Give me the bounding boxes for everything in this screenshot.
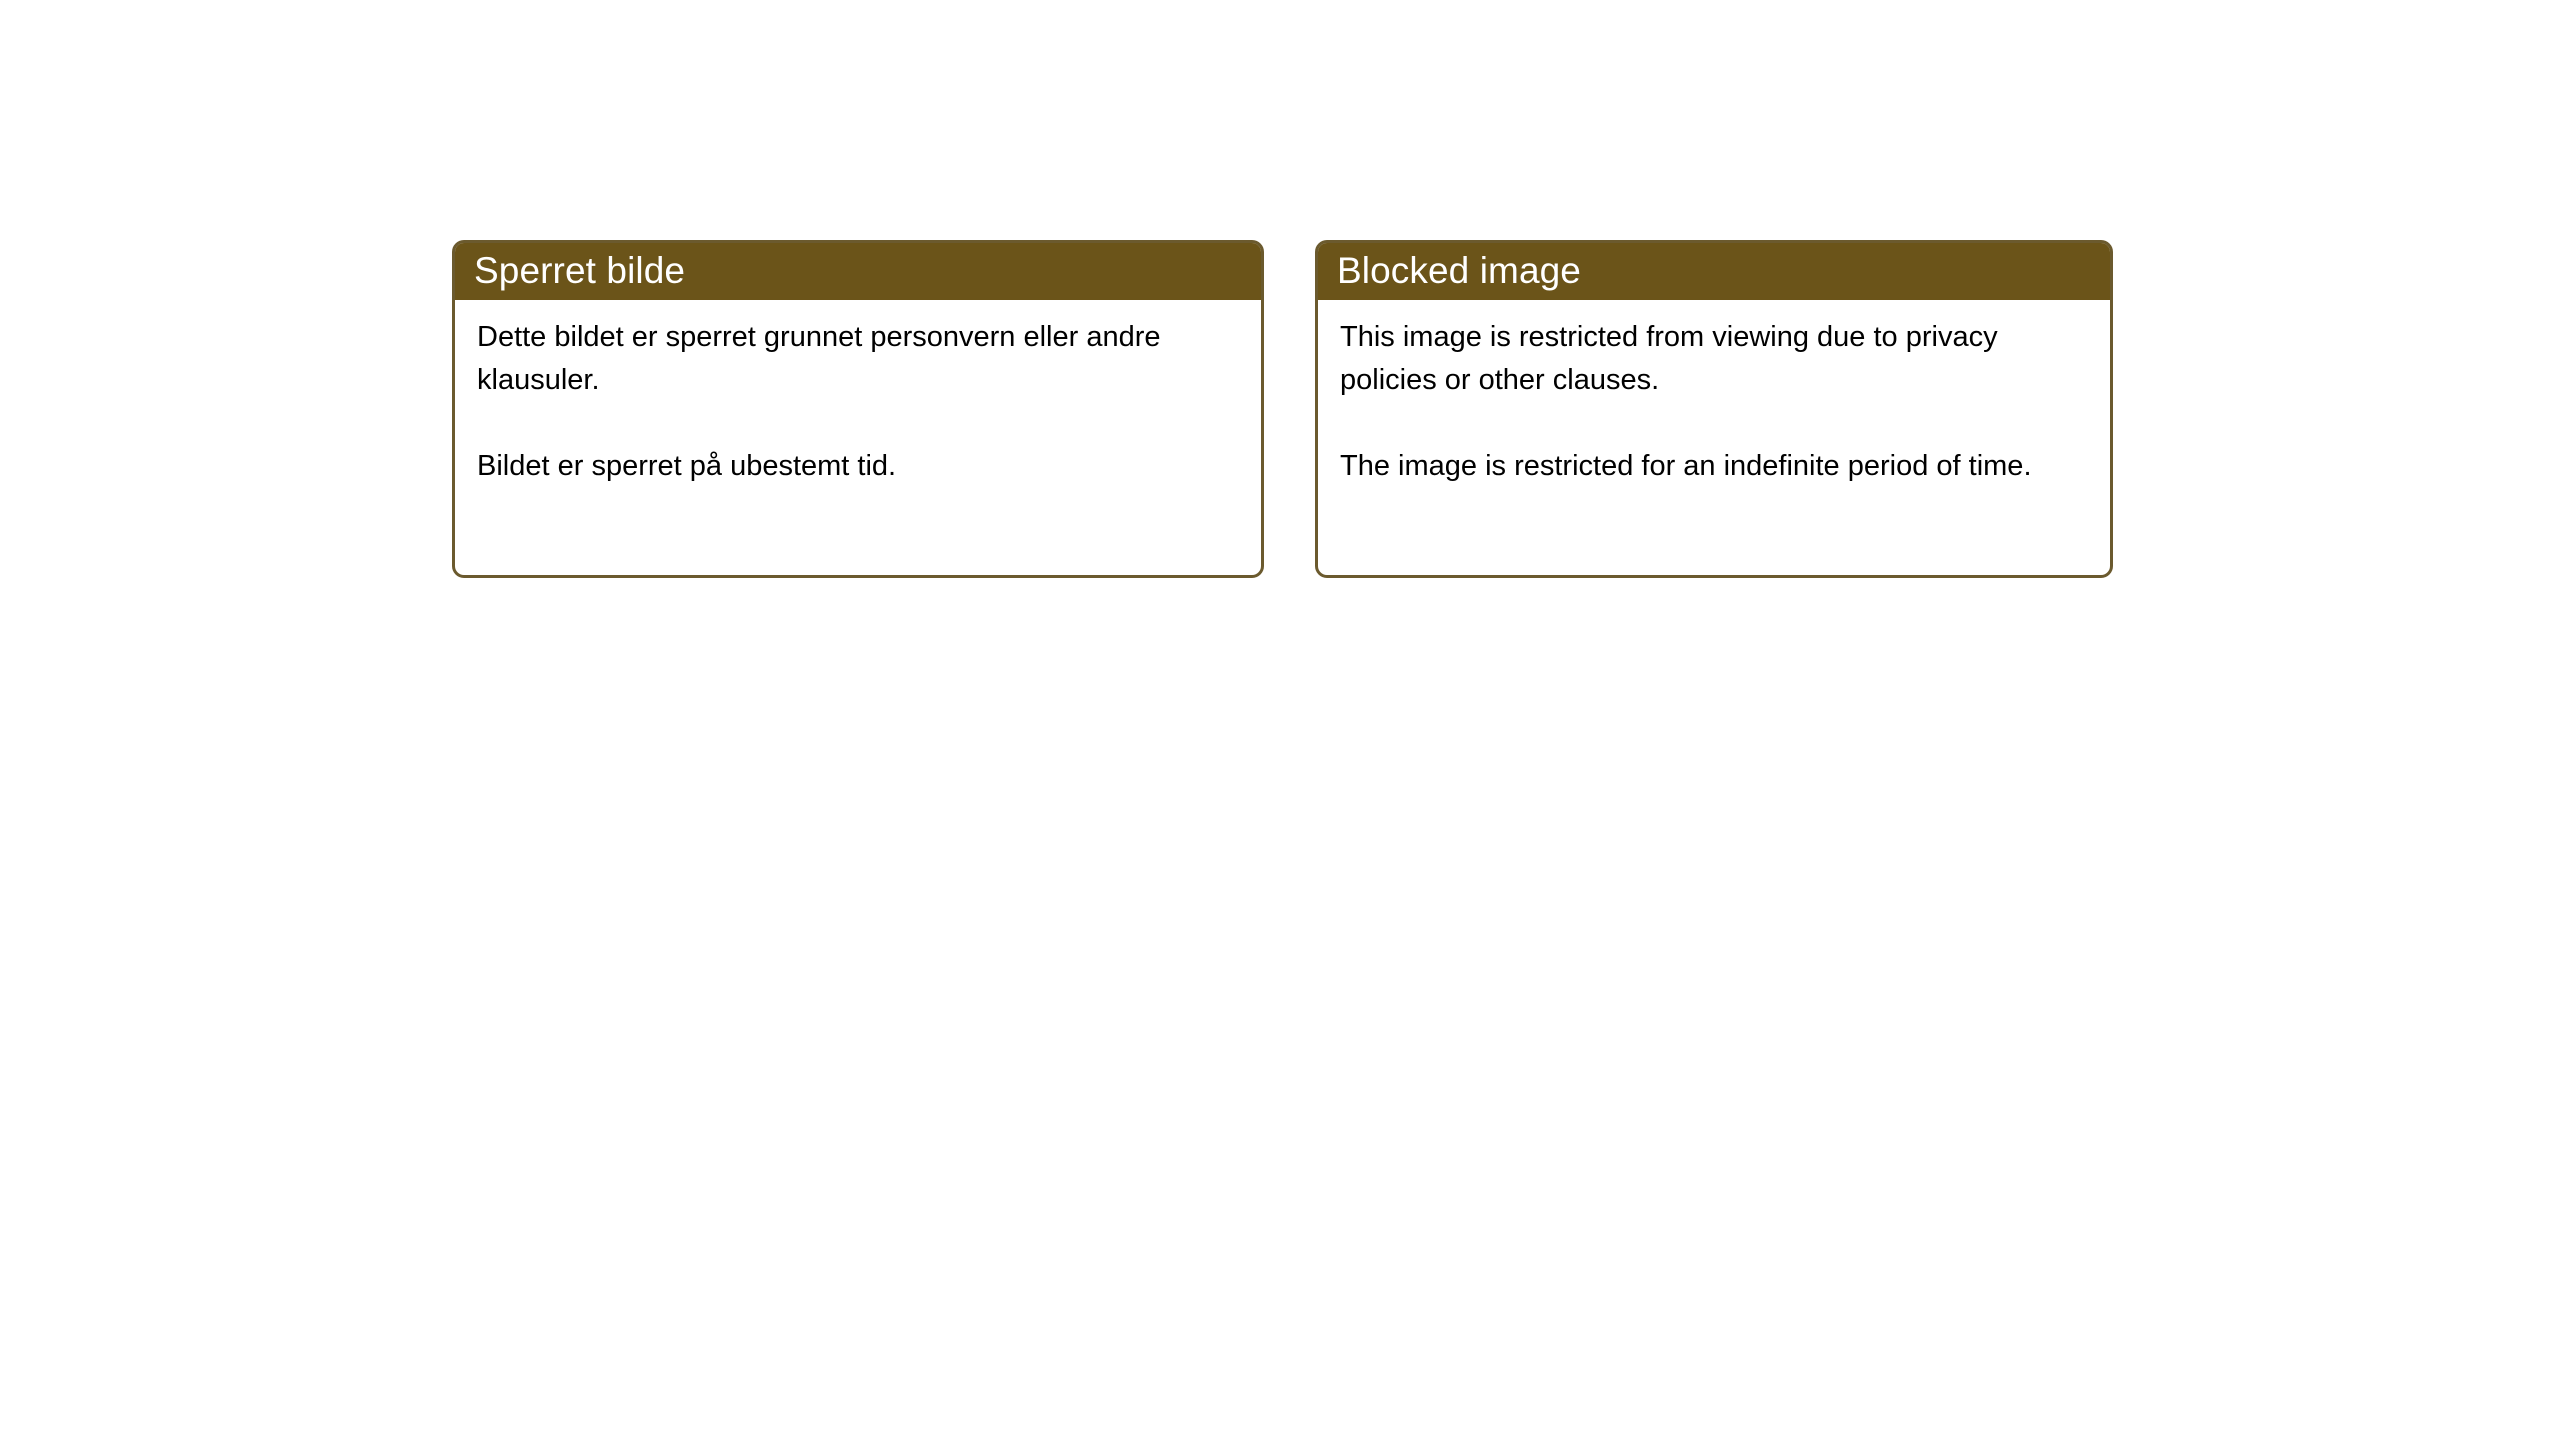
card-paragraph-primary: This image is restricted from viewing du… — [1340, 316, 2092, 402]
card-title: Sperret bilde — [474, 252, 685, 289]
card-body: This image is restricted from viewing du… — [1318, 300, 2110, 488]
card-paragraph-secondary: The image is restricted for an indefinit… — [1340, 445, 2092, 488]
card-title: Blocked image — [1337, 252, 1581, 289]
card-header: Blocked image — [1315, 240, 2113, 300]
card-header: Sperret bilde — [452, 240, 1264, 300]
card-paragraph-primary: Dette bildet er sperret grunnet personve… — [477, 316, 1243, 402]
blocked-image-card-english: Blocked image This image is restricted f… — [1315, 240, 2113, 578]
card-paragraph-secondary: Bildet er sperret på ubestemt tid. — [477, 445, 1243, 488]
card-body: Dette bildet er sperret grunnet personve… — [455, 300, 1261, 488]
blocked-image-card-norwegian: Sperret bilde Dette bildet er sperret gr… — [452, 240, 1264, 578]
